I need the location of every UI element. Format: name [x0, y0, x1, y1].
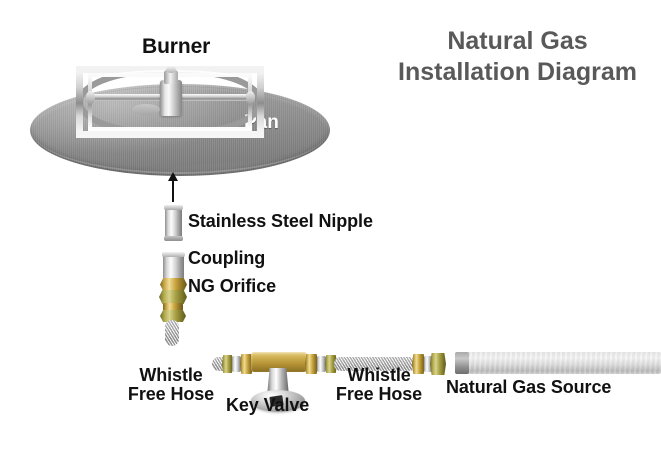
- nipple-thread-bottom: [164, 236, 183, 241]
- page-title-line-1: Natural Gas: [398, 26, 637, 57]
- hose-right-ferrule: [317, 356, 326, 372]
- stainless-steel-nipple-label: Stainless Steel Nipple: [188, 212, 373, 231]
- whistle-free-hose-right-label: Whistle Free Hose: [328, 366, 430, 405]
- burner-arm-right: [174, 94, 250, 101]
- coupling-label: Coupling: [188, 249, 265, 268]
- burner-hub: [160, 80, 182, 116]
- flow-arrow-shaft: [172, 176, 174, 202]
- natural-gas-source-collar: [455, 352, 469, 374]
- nipple-thread-top: [164, 205, 183, 210]
- burner-label: Burner: [142, 36, 210, 59]
- burner-component: [76, 66, 264, 138]
- page-title: Natural Gas Installation Diagram: [398, 26, 637, 89]
- hose-right-end-nut-2: [430, 353, 446, 375]
- natural-gas-source-label: Natural Gas Source: [446, 378, 611, 397]
- hose-right-label-line-2: Free Hose: [328, 385, 430, 404]
- burner-arm-left: [90, 94, 168, 101]
- burner-hub-cap: [166, 66, 176, 73]
- hose-left-label-line-1: Whistle: [120, 366, 222, 385]
- ng-orifice-hex-1: [160, 278, 187, 291]
- coupling-top-edge: [162, 252, 185, 257]
- burner-arm-cap-right: [246, 91, 255, 104]
- hose-left-ferrule: [232, 356, 241, 372]
- key-valve-label: Key Valve: [226, 396, 309, 415]
- ng-orifice-hex-2: [159, 290, 187, 304]
- ng-orifice-body: [163, 303, 183, 311]
- diagram-canvas: Natural Gas Installation Diagram Pan Bur…: [0, 0, 661, 472]
- page-title-line-2: Installation Diagram: [398, 57, 637, 88]
- hose-left-label-line-2: Free Hose: [120, 385, 222, 404]
- burner-center-port: [132, 104, 160, 115]
- whistle-free-hose-left-label: Whistle Free Hose: [120, 366, 222, 405]
- burner-arm-cap-left: [86, 91, 95, 104]
- natural-gas-source-pipe: [455, 352, 661, 374]
- ng-orifice-label: NG Orifice: [188, 277, 276, 296]
- hose-right-label-line-1: Whistle: [328, 366, 430, 385]
